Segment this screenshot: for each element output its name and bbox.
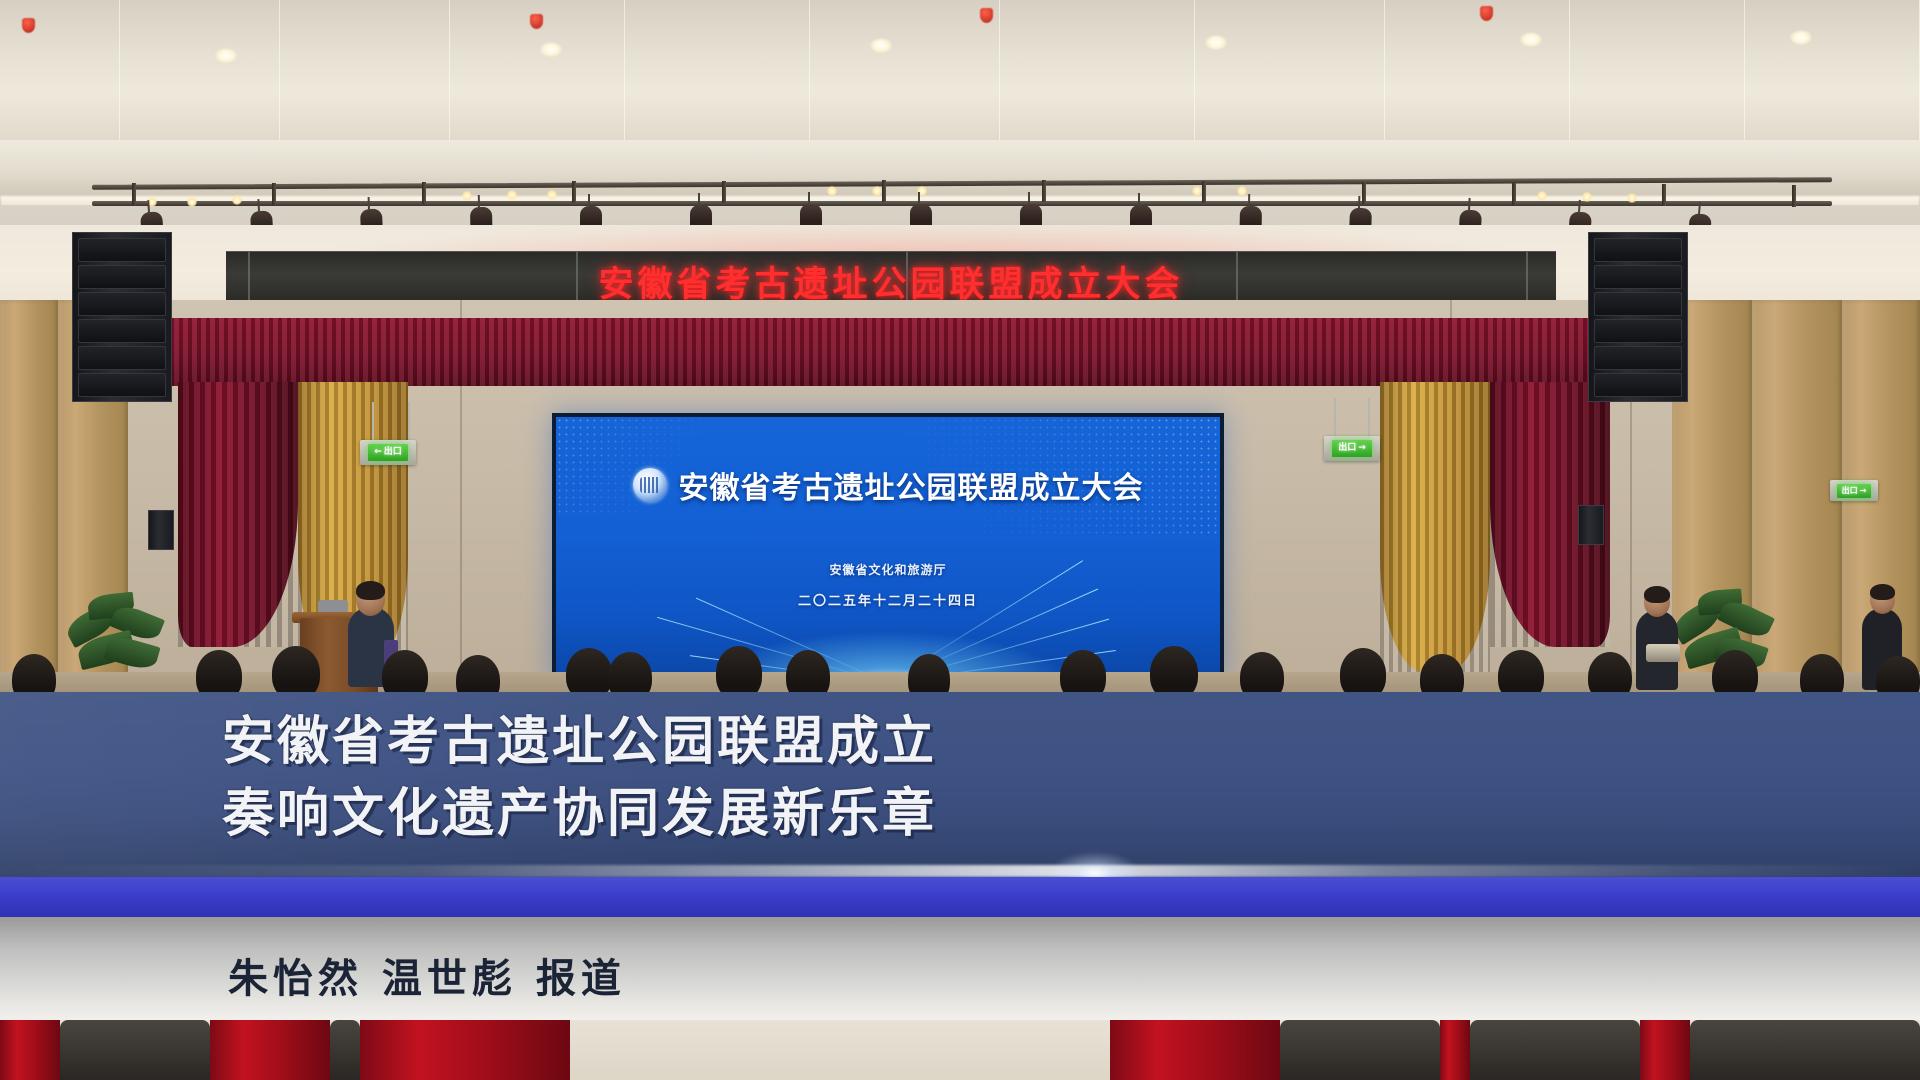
ceiling-downlight <box>540 42 562 57</box>
chair-back <box>1280 1020 1440 1080</box>
screen-date: 二〇二五年十二月二十四日 <box>556 590 1220 609</box>
chair-back <box>1690 1020 1920 1080</box>
projection-screen: 安徽省考古遗址公园联盟成立大会 安徽省文化和旅游厅 二〇二五年十二月二十四日 <box>552 413 1224 681</box>
ceiling-downlight <box>1790 30 1812 45</box>
exit-sign-far-right: 出口 → <box>1830 480 1878 501</box>
wall-speaker-left <box>148 510 174 550</box>
chair-back <box>60 1020 210 1080</box>
ceiling-downlight <box>870 38 892 53</box>
handheld-camera <box>1646 644 1680 662</box>
exit-sign-label: 出口 <box>1338 444 1356 453</box>
pa-speaker-left <box>72 232 172 402</box>
broadcast-frame: 安徽省考古遗址公园联盟成立大会 ← 出口 <box>0 0 1920 1080</box>
exit-sign-panel: 出口 → <box>1332 440 1372 457</box>
projection-screen-content: 安徽省考古遗址公园联盟成立大会 安徽省文化和旅游厅 二〇二五年十二月二十四日 <box>556 417 1220 677</box>
exit-sign-label: 出口 <box>384 448 402 457</box>
stage-valance-curtain <box>152 318 1642 386</box>
exit-sign-left: ← 出口 <box>360 440 416 465</box>
stage-curtain-red-left <box>178 382 298 647</box>
sprinkler-head <box>1480 6 1493 21</box>
camera-operator-head <box>1644 588 1670 617</box>
screen-title: 安徽省考古遗址公园联盟成立大会 <box>679 463 1144 507</box>
chair-cover <box>210 1020 330 1080</box>
ceiling-downlight <box>215 48 237 63</box>
exit-sign-panel: ← 出口 <box>368 444 408 461</box>
ceiling-downlight <box>1520 32 1542 47</box>
exit-arrow-icon: → <box>1860 487 1867 495</box>
glow-streak <box>0 865 1920 877</box>
headline-line-2: 奏响文化遗产协同发展新乐章 <box>222 788 937 840</box>
sprinkler-head <box>980 8 993 23</box>
stage-curtain-gold-right <box>1380 382 1490 672</box>
sprinkler-head <box>22 18 35 33</box>
chair-cover <box>0 1020 60 1080</box>
chair-back <box>1470 1020 1640 1080</box>
globe-emblem-logo <box>633 468 667 502</box>
potted-plant-left <box>60 590 170 682</box>
chair-cover <box>1440 1020 1470 1080</box>
reporter-credit: 朱怡然 温世彪 报道 <box>228 946 626 1004</box>
accent-bar <box>0 877 1920 917</box>
headline-line-1: 安徽省考古遗址公园联盟成立 <box>222 716 937 768</box>
screen-organization: 安徽省文化和旅游厅 <box>556 561 1220 578</box>
sprinkler-head <box>530 14 543 29</box>
exit-arrow-icon: → <box>1358 444 1366 453</box>
chair-cover <box>1640 1020 1690 1080</box>
exit-arrow-icon: ← <box>374 448 382 457</box>
screen-title-row: 安徽省考古遗址公园联盟成立大会 <box>556 463 1220 507</box>
staff-person-head <box>1870 586 1895 614</box>
exit-sign-panel: 出口 → <box>1837 484 1871 498</box>
exit-sign-right: 出口 → <box>1324 436 1380 461</box>
chair-cover <box>1110 1020 1280 1080</box>
lighting-truss <box>92 181 1832 207</box>
speaker-head <box>356 583 385 616</box>
wall-speaker-right <box>1578 505 1604 545</box>
wood-wall-panel <box>0 300 58 700</box>
ceiling-downlight <box>1205 35 1227 50</box>
exit-sign-label: 出口 <box>1842 487 1858 495</box>
chair-cover <box>360 1020 570 1080</box>
pa-speaker-right <box>1588 232 1688 402</box>
chair-back <box>330 1020 360 1080</box>
